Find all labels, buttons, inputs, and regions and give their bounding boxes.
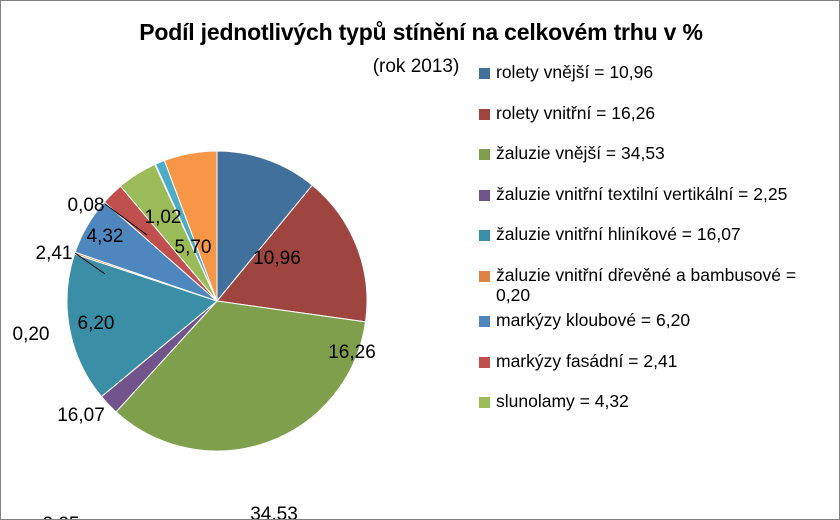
legend-item[interactable]: žaluzie vnitřní hliníkové = 16,07 — [479, 225, 835, 245]
legend-item-label: slunolamy = 4,32 — [496, 392, 629, 412]
pie-slice-label: 4,32 — [87, 226, 124, 248]
chart-title: Podíl jednotlivých typů stínění na celko… — [1, 19, 840, 46]
legend-item-label: rolety vnitřní = 16,26 — [496, 104, 655, 124]
pie-plot-area: 10,9616,2634,532,2516,070,206,202,414,32… — [1, 91, 461, 501]
legend-item[interactable]: markýzy fasádní = 2,41 — [479, 352, 835, 372]
legend-item-label: žaluzie vnitřní textilní vertikální = 2,… — [496, 185, 787, 205]
legend-swatch-icon — [479, 109, 490, 120]
pie-svg — [1, 91, 461, 501]
pie-slice-label: 34,53 — [250, 504, 298, 520]
legend-item-label: rolety vnější = 10,96 — [496, 63, 653, 83]
pie-slice-label: 2,41 — [36, 243, 73, 265]
pie-slice-label: 1,02 — [145, 207, 182, 229]
legend-swatch-icon — [479, 230, 490, 241]
legend-swatch-icon — [479, 149, 490, 160]
legend-item[interactable]: žaluzie vnitřní dřevěné a bambusové = 0,… — [479, 266, 835, 305]
legend-swatch-icon — [479, 271, 490, 282]
legend-item-label: žaluzie vnější = 34,53 — [496, 144, 665, 164]
legend-item[interactable]: rolety vnitřní = 16,26 — [479, 104, 835, 124]
pie-chart-figure: Podíl jednotlivých typů stínění na celko… — [0, 0, 840, 520]
legend-swatch-icon — [479, 316, 490, 327]
legend-item[interactable]: žaluzie vnější = 34,53 — [479, 144, 835, 164]
legend-swatch-icon — [479, 190, 490, 201]
chart-legend: rolety vnější = 10,96rolety vnitřní = 16… — [479, 63, 835, 433]
pie-slice-label: 0,08 — [68, 195, 105, 217]
legend-item-label: žaluzie vnitřní hliníkové = 16,07 — [496, 225, 741, 245]
legend-item[interactable]: rolety vnější = 10,96 — [479, 63, 835, 83]
pie-slice-label: 10,96 — [253, 248, 301, 270]
legend-item-label: žaluzie vnitřní dřevěné a bambusové = 0,… — [496, 266, 835, 305]
legend-item-label: markýzy fasádní = 2,41 — [496, 352, 677, 372]
pie-slice-label: 16,26 — [328, 342, 376, 364]
pie-slice-label: 5,70 — [175, 237, 212, 259]
pie-slice-label: 6,20 — [78, 313, 115, 335]
pie-slice-label: 0,20 — [13, 324, 50, 346]
pie-slice-label: 16,07 — [57, 405, 105, 427]
legend-item-label: markýzy kloubové = 6,20 — [496, 311, 690, 331]
legend-swatch-icon — [479, 68, 490, 79]
legend-item[interactable]: žaluzie vnitřní textilní vertikální = 2,… — [479, 185, 835, 205]
legend-item[interactable]: markýzy kloubové = 6,20 — [479, 311, 835, 331]
legend-swatch-icon — [479, 357, 490, 368]
legend-item[interactable]: slunolamy = 4,32 — [479, 392, 835, 412]
pie-slice-label: 2,25 — [43, 514, 80, 520]
legend-swatch-icon — [479, 397, 490, 408]
